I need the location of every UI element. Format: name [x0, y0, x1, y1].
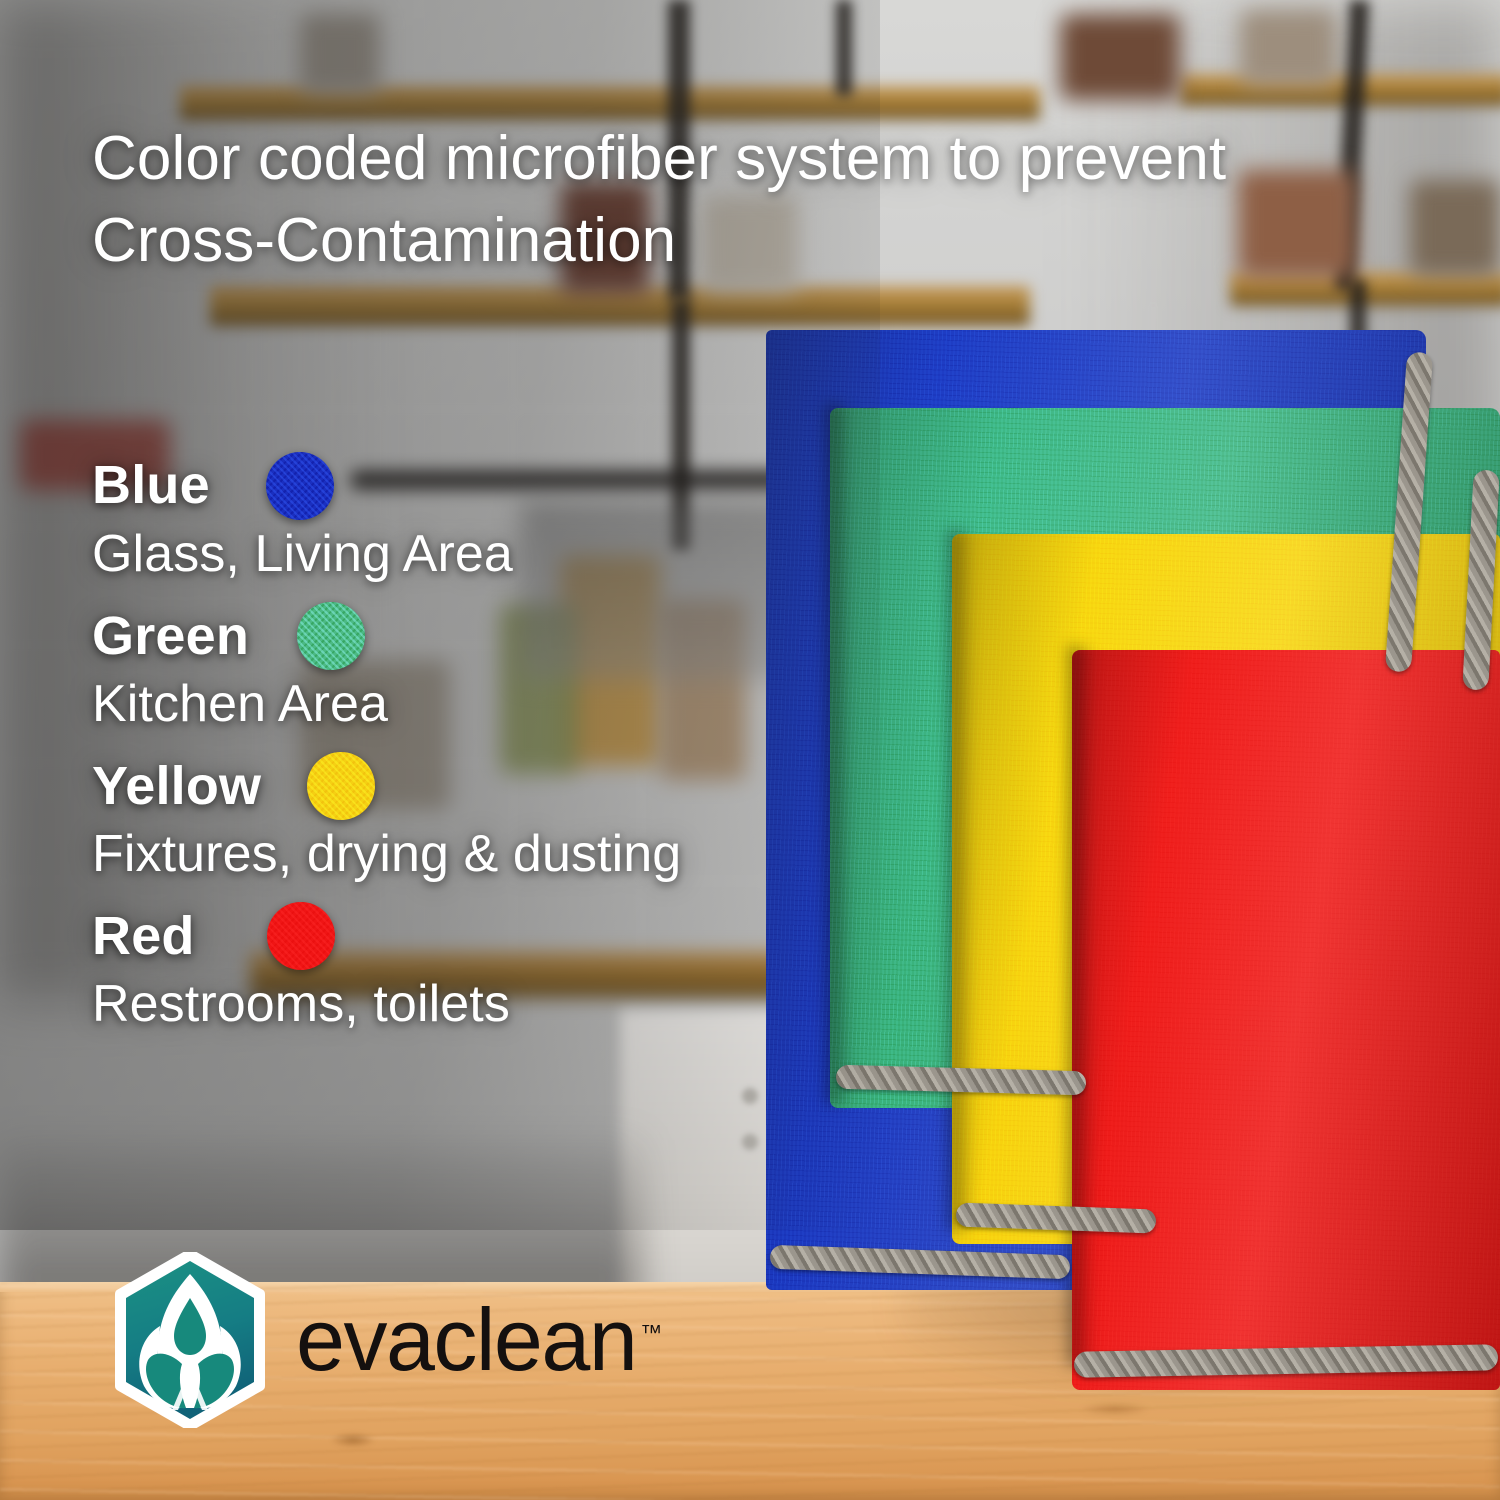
- legend-color-name: Red: [92, 909, 195, 964]
- legend-row: Green: [92, 602, 681, 670]
- brand-lockup: evaclean™: [110, 1252, 662, 1428]
- evaclean-wordmark: evaclean™: [296, 1296, 662, 1384]
- headline: Color coded microfiber system to prevent…: [92, 118, 1422, 282]
- headline-line-2: Cross-Contamination: [92, 200, 1422, 282]
- color-code-legend: Blue Glass, Living Area Green Kitchen Ar…: [92, 452, 681, 1053]
- legend-color-name: Yellow: [92, 759, 261, 814]
- wordmark-text: evaclean: [296, 1290, 636, 1389]
- legend-row: Yellow: [92, 752, 681, 820]
- overlay-content: Color coded microfiber system to prevent…: [0, 0, 1500, 1500]
- yellow-fabric-swatch-icon: [307, 752, 375, 820]
- legend-description: Glass, Living Area: [92, 526, 681, 582]
- legend-description: Fixtures, drying & dusting: [92, 826, 681, 882]
- legend-color-name: Green: [92, 609, 249, 664]
- product-infographic: Color coded microfiber system to prevent…: [0, 0, 1500, 1500]
- legend-item-yellow: Yellow Fixtures, drying & dusting: [92, 752, 681, 882]
- legend-description: Restrooms, toilets: [92, 976, 681, 1032]
- green-fabric-swatch-icon: [297, 602, 365, 670]
- trademark-symbol: ™: [640, 1320, 662, 1345]
- legend-row: Red: [92, 902, 681, 970]
- red-fabric-swatch-icon: [267, 902, 335, 970]
- headline-line-1: Color coded microfiber system to prevent: [92, 124, 1226, 193]
- legend-item-green: Green Kitchen Area: [92, 602, 681, 732]
- legend-item-blue: Blue Glass, Living Area: [92, 452, 681, 582]
- legend-description: Kitchen Area: [92, 676, 681, 732]
- legend-color-name: Blue: [92, 458, 210, 513]
- evaclean-hexagon-leaf-droplet-logo-icon: [110, 1252, 270, 1428]
- legend-row: Blue: [92, 452, 681, 520]
- legend-item-red: Red Restrooms, toilets: [92, 902, 681, 1032]
- blue-fabric-swatch-icon: [266, 452, 334, 520]
